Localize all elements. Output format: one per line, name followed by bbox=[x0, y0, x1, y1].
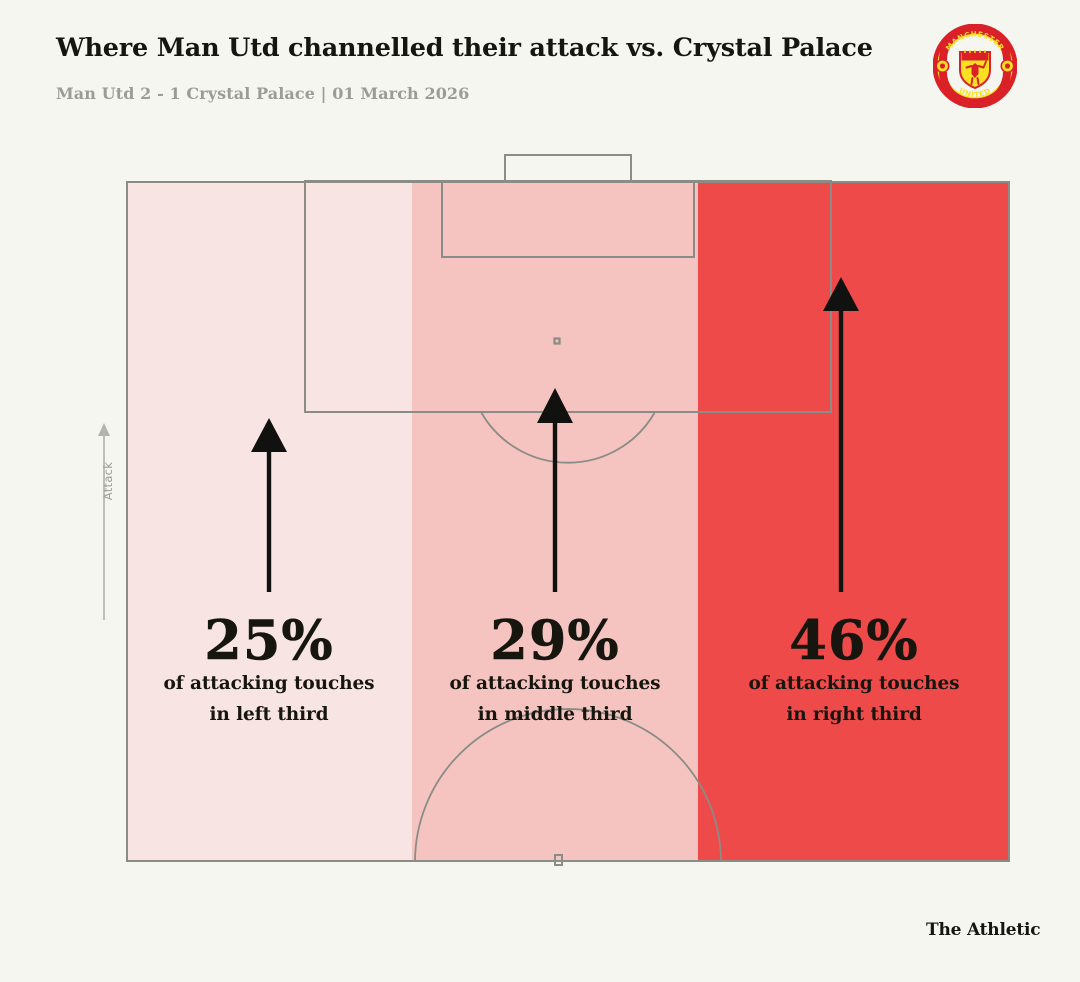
stat-caption-left-line2: in left third bbox=[126, 699, 412, 730]
stat-percent-left: 25% bbox=[126, 612, 412, 668]
stat-caption-right-line2: in right third bbox=[698, 699, 1010, 730]
stat-percent-middle: 29% bbox=[412, 612, 698, 668]
attack-axis-arrow-icon bbox=[86, 420, 122, 620]
pitch-markings bbox=[126, 181, 1010, 862]
page-title: Where Man Utd channelled their attack vs… bbox=[56, 33, 873, 63]
stat-caption-left-line1: of attacking touches bbox=[126, 668, 412, 699]
stat-block-right-third: 46% of attacking touches in right third bbox=[698, 612, 1010, 730]
attack-axis-label: Attack bbox=[101, 451, 115, 511]
stat-caption-middle-line1: of attacking touches bbox=[412, 668, 698, 699]
stat-percent-right: 46% bbox=[698, 612, 1010, 668]
the-athletic-logo: The Athletic bbox=[926, 920, 1040, 940]
stat-caption-middle-line2: in middle third bbox=[412, 699, 698, 730]
page-subtitle: Man Utd 2 - 1 Crystal Palace | 01 March … bbox=[56, 84, 469, 103]
stat-block-middle-third: 29% of attacking touches in middle third bbox=[412, 612, 698, 730]
man-utd-crest-icon: MANCHESTER UNITED bbox=[933, 24, 1017, 108]
infographic-canvas: Where Man Utd channelled their attack vs… bbox=[0, 0, 1080, 982]
stat-caption-right-line1: of attacking touches bbox=[698, 668, 1010, 699]
stat-block-left-third: 25% of attacking touches in left third bbox=[126, 612, 412, 730]
pitch-diagram bbox=[126, 181, 1010, 862]
